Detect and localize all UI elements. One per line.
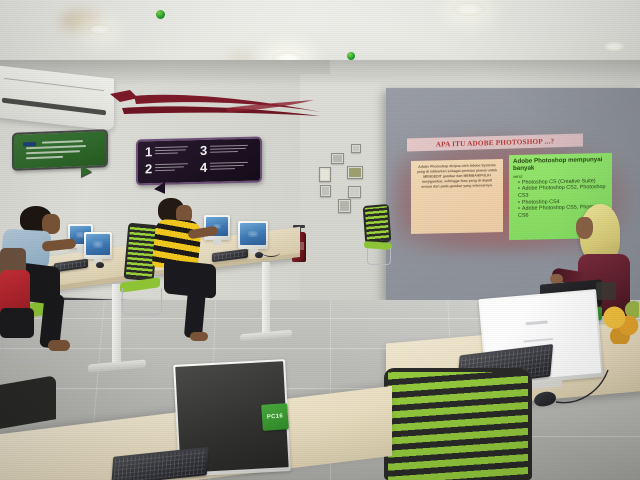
cable (262, 248, 280, 257)
arm (42, 238, 77, 251)
classroom-photo: green speech-bubble infographic poster 1… (0, 0, 640, 480)
leg (184, 287, 206, 338)
chair[interactable] (364, 205, 394, 265)
ceiling-green-marker (347, 52, 355, 60)
lap (0, 308, 34, 338)
foot (190, 332, 208, 341)
ceiling-light (452, 2, 486, 16)
chair-foreground[interactable] (384, 368, 534, 480)
desk-leg (262, 262, 270, 336)
ceiling-light (604, 42, 624, 51)
poster-text-lines (210, 161, 248, 172)
ceiling-light (88, 24, 112, 35)
wall-picture-frame (348, 186, 361, 198)
mouse-cable (552, 368, 614, 410)
poster-tail (154, 182, 165, 194)
flower-arrangement (601, 300, 639, 344)
wall-picture-frame (320, 185, 331, 197)
poster-text-lines (155, 162, 188, 173)
wall-decal-swoosh (108, 86, 323, 120)
chair-frame (367, 248, 391, 265)
wall-poster-green: green speech-bubble infographic poster (12, 129, 108, 171)
monitor-screen (240, 223, 266, 245)
poster-tail (81, 165, 92, 177)
wall-picture-frame (351, 144, 361, 153)
slide-title-text: APA ITU ADOBE PHOTOSHOP ...? (436, 137, 555, 148)
slide-right-title: Adobe Photoshop mempunyai banyak (513, 156, 608, 173)
poster-text-lines (210, 144, 248, 155)
slide-title-banner: APA ITU ADOBE PHOTOSHOP ...? (407, 134, 583, 152)
chair-backrest (363, 204, 392, 244)
slide-text-box-left: Adobe Photoshop dicipta oleh Adobe Syste… (411, 159, 503, 234)
poster-number: 4 (200, 162, 207, 173)
chair-backrest (384, 368, 532, 480)
poster-number: 3 (200, 145, 207, 156)
poster-text-lines (155, 145, 188, 156)
wall-picture-frame (347, 166, 363, 179)
poster-number: 1 (145, 146, 152, 157)
foot (48, 340, 70, 351)
poster-number: 2 (145, 163, 152, 174)
wall-picture-frame (331, 153, 344, 164)
monitor[interactable] (238, 221, 268, 249)
slide-left-paragraph: Adobe Photoshop dicipta oleh Adobe Syste… (416, 163, 498, 189)
desk-object (596, 282, 616, 300)
poster-green-caption: green speech-bubble infographic poster (14, 131, 106, 169)
student-middle (146, 196, 238, 336)
student-front (0, 248, 40, 340)
face (576, 217, 593, 239)
wall-poster-numbered: 1 2 3 4 (136, 136, 262, 185)
pc-tag-pc16: PC16 (261, 403, 289, 431)
ceiling-green-marker (156, 10, 165, 19)
wall-picture-frame (338, 199, 351, 213)
wall-picture-frame (319, 167, 331, 182)
pc-tag-label: PC16 (267, 413, 284, 420)
